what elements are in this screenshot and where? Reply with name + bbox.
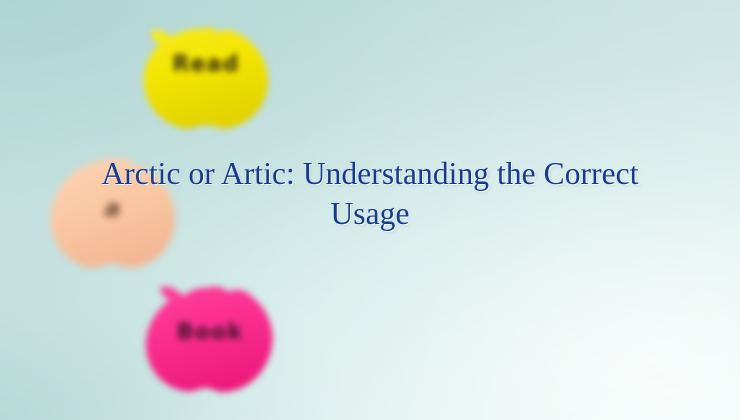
page-title-line-1: Arctic or Artic: Understanding the Corre…	[14, 154, 726, 194]
sticky-note-read: Read	[138, 22, 274, 134]
sticky-note-book: Book	[138, 282, 282, 398]
apple-shape-icon	[138, 282, 282, 398]
page-title-line-2: Usage	[14, 194, 726, 234]
page-title: Arctic or Artic: Understanding the Corre…	[14, 154, 726, 234]
apple-shape-icon	[138, 22, 274, 134]
hero-image: Read a B	[0, 0, 740, 420]
